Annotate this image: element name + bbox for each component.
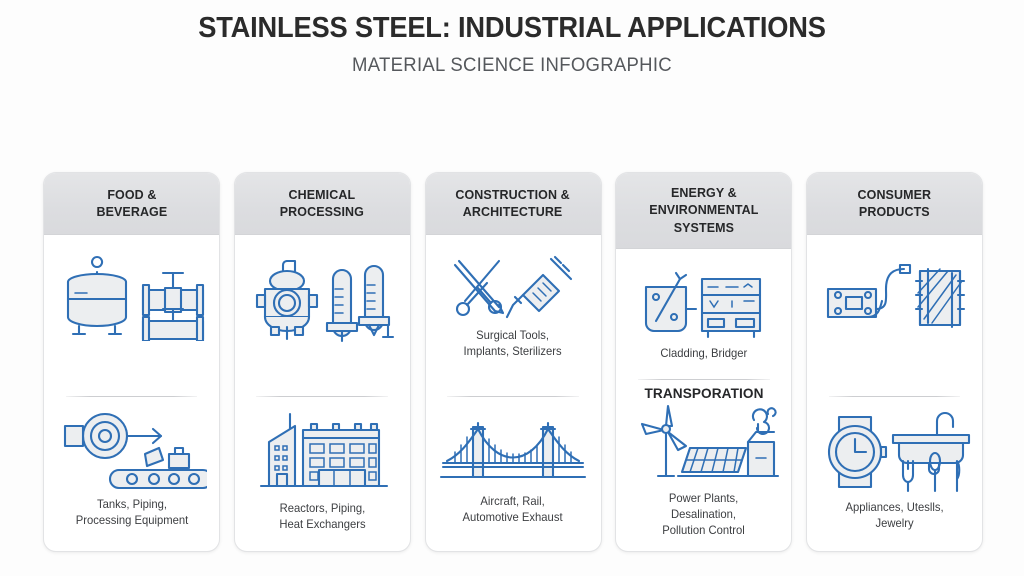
card-header-line: ENERGY & bbox=[649, 184, 758, 201]
category-card-consumer-products[interactable]: CONSUMER PRODUCTS bbox=[806, 172, 983, 552]
category-card-food-beverage[interactable]: FOOD & BEVERAGE bbox=[43, 172, 220, 552]
storage-tank-and-pipe-valve-icon bbox=[57, 255, 207, 341]
card-slot-top: Surgical Tools, Implants, Sterilizers bbox=[435, 241, 592, 392]
card-header-line: SYSTEMS bbox=[649, 219, 758, 236]
icon-group-cladding-cabinet bbox=[640, 269, 768, 339]
card-header-line: ARCHITECTURE bbox=[456, 203, 570, 220]
card-header-line: ENVIRONMENTAL bbox=[649, 201, 758, 218]
card-divider bbox=[829, 396, 961, 397]
card-body-construction-architecture: Surgical Tools, Implants, Sterilizers bbox=[426, 235, 601, 551]
card-slot-top bbox=[53, 241, 210, 392]
card-slot-bottom: Aircraft, Rail, Automotive Exhaust bbox=[435, 403, 592, 540]
card-slot-top: Cladding, Bridger bbox=[625, 255, 782, 375]
caption-line: Surgical Tools, bbox=[464, 328, 562, 344]
card-body-chemical-processing: Reactors, Piping, Heat Exchangers bbox=[235, 235, 410, 551]
cladding-panel-and-cabinet-icon bbox=[640, 269, 768, 339]
surgical-tools-and-syringe-icon bbox=[443, 255, 583, 321]
card-header-line: CONSTRUCTION & bbox=[456, 186, 570, 203]
card-header-line: CHEMICAL bbox=[280, 186, 364, 203]
card-header-food-beverage: FOOD & BEVERAGE bbox=[44, 173, 219, 235]
card-divider bbox=[638, 379, 770, 380]
page-subtitle: MATERIAL SCIENCE INFOGRAPHIC bbox=[26, 54, 999, 77]
card-caption-cladding: Cladding, Bridger bbox=[660, 346, 747, 362]
card-header-label: FOOD & BEVERAGE bbox=[96, 186, 167, 221]
card-body-energy-environmental: Cladding, Bridger TRANSPORATION bbox=[616, 249, 791, 551]
caption-line: Processing Equipment bbox=[75, 513, 188, 529]
icon-group-energy bbox=[628, 404, 780, 484]
card-slot-bottom: Reactors, Piping, Heat Exchangers bbox=[244, 403, 401, 540]
card-header-label: CHEMICAL PROCESSING bbox=[280, 186, 364, 221]
category-card-construction-architecture[interactable]: CONSTRUCTION & ARCHITECTURE bbox=[425, 172, 602, 552]
card-caption-surgical: Surgical Tools, Implants, Sterilizers bbox=[464, 328, 562, 360]
card-header-line: PROCESSING bbox=[280, 203, 364, 220]
card-header-consumer-products: CONSUMER PRODUCTS bbox=[807, 173, 982, 235]
card-header-label: CONSTRUCTION & ARCHITECTURE bbox=[456, 186, 570, 221]
processing-machine-and-conveyor-icon bbox=[57, 412, 207, 490]
caption-line: Automotive Exhaust bbox=[463, 510, 563, 526]
caption-line: Reactors, Piping, bbox=[279, 501, 365, 517]
faucet-fixture-and-grill-grate-icon bbox=[820, 255, 970, 333]
card-caption-construction-architecture: Aircraft, Rail, Automotive Exhaust bbox=[463, 494, 563, 526]
industrial-buildings-icon bbox=[247, 408, 397, 494]
icon-group-processing-conveyor bbox=[57, 412, 207, 490]
page-title: STAINLESS STEEL: INDUSTRIAL APPLICATIONS bbox=[31, 12, 994, 45]
card-header-energy-environmental: ENERGY & ENVIRONMENTAL SYSTEMS bbox=[616, 173, 791, 249]
card-slot-bottom: Tanks, Piping, Processing Equipment bbox=[53, 403, 210, 540]
caption-line: Power Plants, bbox=[662, 491, 745, 507]
card-header-label: ENERGY & ENVIRONMENTAL SYSTEMS bbox=[649, 184, 758, 236]
caption-line: Implants, Sterilizers bbox=[464, 344, 562, 360]
card-caption-chemical-processing: Reactors, Piping, Heat Exchangers bbox=[279, 501, 365, 533]
wristwatch-sink-and-cutlery-icon bbox=[819, 409, 971, 493]
caption-line: Aircraft, Rail, bbox=[463, 494, 563, 510]
wind-turbine-solar-power-plant-icon bbox=[628, 404, 780, 484]
suspension-bridge-icon bbox=[437, 415, 589, 487]
card-caption-consumer-products: Appliances, Uteslls, Jewelry bbox=[845, 500, 943, 532]
card-slot-top bbox=[244, 241, 401, 392]
card-slot-bottom: Appliances, Uteslls, Jewelry bbox=[816, 403, 973, 540]
card-divider bbox=[256, 396, 388, 397]
card-slot-bottom: TRANSPORATION bbox=[625, 386, 782, 539]
icon-group-watch-sink-cutlery bbox=[819, 409, 971, 493]
category-card-chemical-processing[interactable]: CHEMICAL PROCESSING bbox=[234, 172, 411, 552]
reactor-vessel-and-column-icon bbox=[247, 255, 397, 343]
icon-group-tank-piping bbox=[57, 255, 207, 341]
card-body-food-beverage: Tanks, Piping, Processing Equipment bbox=[44, 235, 219, 551]
card-body-consumer-products: Appliances, Uteslls, Jewelry bbox=[807, 235, 982, 551]
card-caption-food-beverage: Tanks, Piping, Processing Equipment bbox=[75, 497, 188, 529]
card-header-line: CONSUMER bbox=[858, 186, 932, 203]
card-header-line: PRODUCTS bbox=[858, 203, 932, 220]
card-header-construction-architecture: CONSTRUCTION & ARCHITECTURE bbox=[426, 173, 601, 235]
icon-group-bridge bbox=[437, 415, 589, 487]
card-header-line: BEVERAGE bbox=[96, 203, 167, 220]
card-slot-top bbox=[816, 241, 973, 392]
icon-group-surgical-tools bbox=[443, 255, 583, 321]
icon-group-buildings bbox=[247, 408, 397, 494]
title-block: STAINLESS STEEL: INDUSTRIAL APPLICATIONS… bbox=[0, 12, 1024, 77]
caption-line: Cladding, Bridger bbox=[660, 346, 747, 362]
card-divider bbox=[66, 396, 198, 397]
card-header-label: CONSUMER PRODUCTS bbox=[858, 186, 932, 221]
caption-line: Tanks, Piping, bbox=[75, 497, 188, 513]
caption-line: Jewelry bbox=[845, 516, 943, 532]
category-card-row: FOOD & BEVERAGE bbox=[43, 172, 983, 552]
card-divider bbox=[447, 396, 579, 397]
card-caption-energy-environmental: Power Plants, Desalination, Pollution Co… bbox=[662, 491, 745, 539]
icon-group-fixture-grate bbox=[820, 255, 970, 333]
icon-group-reactor-columns bbox=[247, 255, 397, 343]
caption-line: Desalination, bbox=[662, 507, 745, 523]
category-card-energy-environmental[interactable]: ENERGY & ENVIRONMENTAL SYSTEMS bbox=[615, 172, 792, 552]
caption-line: Pollution Control bbox=[662, 523, 745, 539]
card-header-line: FOOD & bbox=[96, 186, 167, 203]
card-subheading-transporation: TRANSPORATION bbox=[644, 386, 763, 402]
caption-line: Appliances, Uteslls, bbox=[845, 500, 943, 516]
infographic-canvas: STAINLESS STEEL: INDUSTRIAL APPLICATIONS… bbox=[0, 0, 1024, 576]
card-header-chemical-processing: CHEMICAL PROCESSING bbox=[235, 173, 410, 235]
caption-line: Heat Exchangers bbox=[279, 517, 365, 533]
